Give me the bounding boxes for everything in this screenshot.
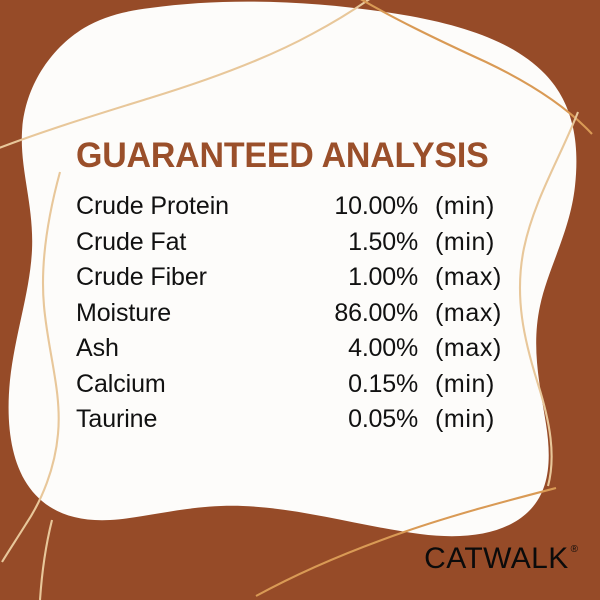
nutrient-label: Calcium	[76, 370, 316, 399]
nutrient-value: 10.00%	[316, 192, 418, 221]
registered-trademark-icon: ®	[571, 545, 578, 555]
nutrient-value: 86.00%	[316, 299, 418, 328]
label-content: GUARANTEED ANALYSIS Crude Protein 10.00%…	[0, 0, 600, 600]
nutrient-label: Crude Fat	[76, 228, 316, 257]
nutrient-label: Crude Fiber	[76, 263, 316, 292]
brand-name: CATWALK	[424, 544, 568, 574]
nutrient-value: 1.50%	[316, 228, 418, 257]
table-row: Moisture 86.00% (max)	[76, 299, 524, 335]
nutrient-label: Ash	[76, 334, 316, 363]
nutrient-value: 0.05%	[316, 405, 418, 434]
nutrient-label: Taurine	[76, 405, 316, 434]
nutrient-qualifier: (max)	[418, 299, 524, 328]
table-row: Ash 4.00% (max)	[76, 334, 524, 370]
nutrient-qualifier: (min)	[418, 405, 524, 434]
nutrient-value: 1.00%	[316, 263, 418, 292]
nutrient-qualifier: (min)	[418, 192, 524, 221]
product-label-card: GUARANTEED ANALYSIS Crude Protein 10.00%…	[0, 0, 600, 600]
table-row: Calcium 0.15% (min)	[76, 370, 524, 406]
table-row: Crude Protein 10.00% (min)	[76, 192, 524, 228]
table-row: Crude Fiber 1.00% (max)	[76, 263, 524, 299]
nutrient-qualifier: (min)	[418, 228, 524, 257]
guaranteed-analysis-table: Crude Protein 10.00% (min) Crude Fat 1.5…	[76, 192, 524, 441]
nutrient-label: Moisture	[76, 299, 316, 328]
nutrient-label: Crude Protein	[76, 192, 316, 221]
nutrient-qualifier: (max)	[418, 263, 524, 292]
table-row: Crude Fat 1.50% (min)	[76, 228, 524, 264]
brand-logo: CATWALK ®	[424, 544, 578, 574]
nutrient-qualifier: (max)	[418, 334, 524, 363]
table-row: Taurine 0.05% (min)	[76, 405, 524, 441]
nutrient-value: 4.00%	[316, 334, 418, 363]
nutrient-value: 0.15%	[316, 370, 418, 399]
nutrient-qualifier: (min)	[418, 370, 524, 399]
page-title: GUARANTEED ANALYSIS	[76, 136, 489, 176]
